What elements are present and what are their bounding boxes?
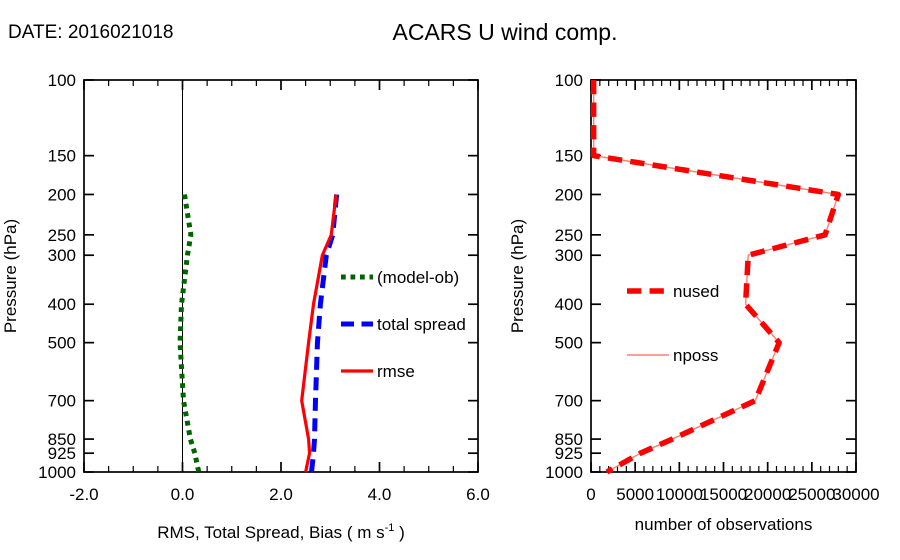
y-tick-label: 500 (48, 334, 76, 353)
y-tick-label: 250 (555, 226, 583, 245)
x-tick-label: -2.0 (69, 485, 98, 504)
y-axis-label: Pressure (hPa) (1, 219, 20, 333)
y-axis-label: Pressure (hPa) (508, 219, 527, 333)
x-tick-label: 30000 (832, 485, 879, 504)
x-tick-label: 5000 (616, 485, 654, 504)
y-tick-label: 400 (555, 295, 583, 314)
legend-label-rmse: rmse (377, 362, 415, 381)
y-tick-label: 500 (555, 334, 583, 353)
y-tick-label: 1000 (38, 463, 76, 482)
x-axis-label-tail: ) (394, 523, 404, 542)
legend-label-nused: nused (673, 282, 719, 301)
y-tick-label: 150 (555, 147, 583, 166)
y-tick-label: 300 (555, 246, 583, 265)
x-tick-label: 20000 (744, 485, 791, 504)
chart-title: ACARS U wind comp. (393, 19, 618, 45)
x-tick-label: 6.0 (466, 485, 490, 504)
y-tick-label: 925 (48, 444, 76, 463)
x-axis-label-main: RMS, Total Spread, Bias ( m s (157, 523, 384, 542)
x-tick-label: 10000 (656, 485, 703, 504)
y-tick-label: 100 (555, 71, 583, 90)
x-axis-label: number of observations (635, 515, 813, 534)
y-tick-label: 700 (48, 392, 76, 411)
x-tick-label: 25000 (788, 485, 835, 504)
x-tick-label: 15000 (700, 485, 747, 504)
legend-label-modelob: (model-ob) (377, 268, 459, 287)
y-tick-label: 100 (48, 71, 76, 90)
x-axis-label: RMS, Total Spread, Bias ( m s-1 ) (157, 522, 405, 542)
y-tick-label: 1000 (545, 463, 583, 482)
y-tick-label: 925 (555, 444, 583, 463)
x-tick-label: 2.0 (269, 485, 293, 504)
legend-label-nposs: nposs (673, 346, 718, 365)
y-tick-label: 150 (48, 147, 76, 166)
x-tick-label: 0.0 (171, 485, 195, 504)
date-label: DATE: 2016021018 (8, 22, 174, 43)
x-tick-label: 4.0 (368, 485, 392, 504)
y-tick-label: 200 (555, 185, 583, 204)
y-tick-label: 300 (48, 246, 76, 265)
figure-canvas: DATE: 2016021018 ACARS U wind comp. -2.0… (0, 0, 900, 560)
x-axis-label-superscript: -1 (385, 522, 395, 534)
y-tick-label: 700 (555, 392, 583, 411)
y-tick-label: 400 (48, 295, 76, 314)
y-tick-label: 250 (48, 226, 76, 245)
y-tick-label: 200 (48, 185, 76, 204)
x-tick-label: 0 (586, 485, 595, 504)
legend-label-totalspread: total spread (377, 315, 466, 334)
plot-page: DATE: 2016021018 ACARS U wind comp. -2.0… (0, 0, 900, 560)
